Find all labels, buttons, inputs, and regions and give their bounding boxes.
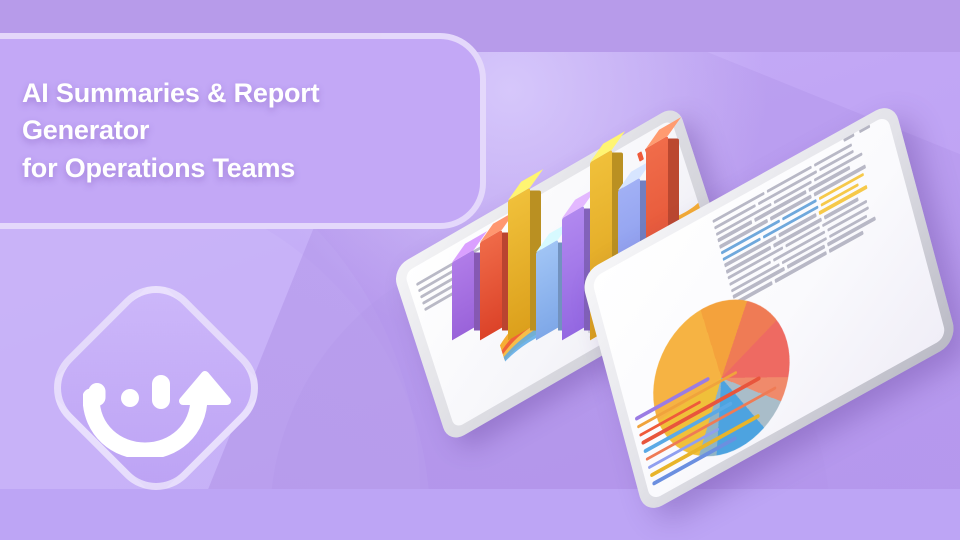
bar-column	[508, 188, 530, 341]
banner-canvas: AI Summaries & Report Generator for Oper…	[0, 0, 960, 540]
title-card: AI Summaries & Report Generator for Oper…	[0, 33, 486, 229]
smiley-arrow-icon	[83, 367, 233, 457]
brand-logo	[35, 275, 263, 520]
title-line-1: AI Summaries & Report Generator	[22, 78, 319, 145]
bar-column	[452, 250, 474, 341]
page-title: AI Summaries & Report Generator for Oper…	[22, 75, 446, 187]
title-line-2: for Operations Teams	[22, 150, 446, 187]
bar-column	[536, 240, 558, 341]
bar-column	[562, 206, 584, 341]
bar-column	[480, 230, 502, 341]
